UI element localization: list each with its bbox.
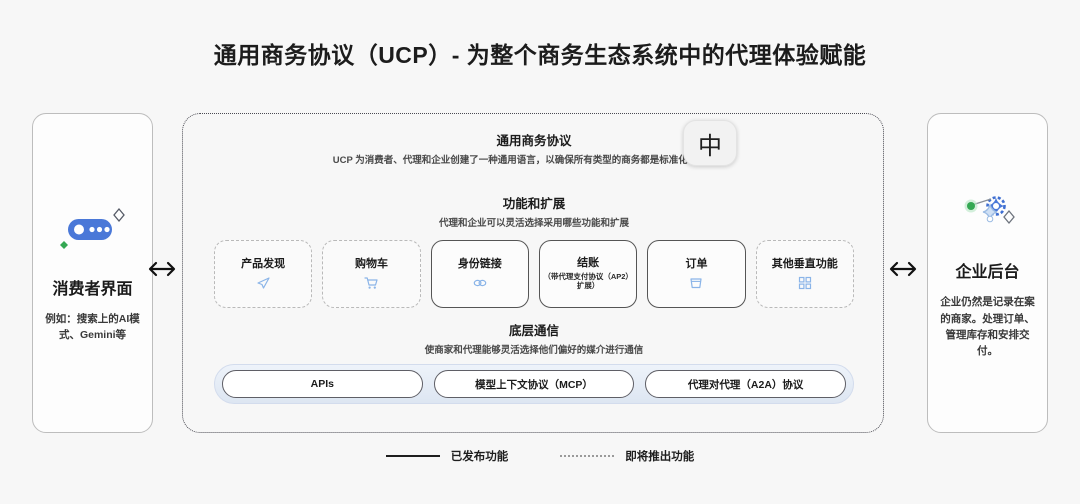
communication-protocol-band: APIs 模型上下文协议（MCP） 代理对代理（A2A）协议 [214,364,854,404]
feature-card-identity-link[interactable]: 身份链接 [431,240,529,308]
business-backend-panel: 企业后台 企业仍然是记录在案的商家。处理订单、管理库存和安排交付。 [927,113,1048,433]
feature-card-orders[interactable]: 订单 [647,240,745,308]
business-backend-desc: 企业仍然是记录在案的商家。处理订单、管理库存和安排交付。 [936,294,1039,359]
left-connector-arrow-icon [145,259,179,279]
feature-card-label: 订单 [685,258,707,272]
feature-cards-row: 产品发现 购物车 身份链接 [214,240,854,308]
business-backend-icon [951,186,1025,240]
feature-card-other-verticals[interactable]: 其他垂直功能 [756,240,854,308]
protocol-pill-a2a[interactable]: 代理对代理（A2A）协议 [645,370,846,398]
feature-card-shopping-cart[interactable]: 购物车 [322,240,420,308]
feature-card-label: 身份链接 [458,258,502,272]
legend-item-upcoming: 即将推出功能 [560,448,694,464]
consumer-interface-icon [56,203,130,257]
feature-card-label: 其他垂直功能 [772,258,838,272]
legend-dotted-line-icon [560,455,614,457]
paper-plane-icon [256,276,270,290]
features-header: 功能和扩展 代理和企业可以灵活选择采用哪些功能和扩展 [213,193,855,231]
legend-item-released: 已发布功能 [386,448,509,464]
communication-title: 底层通信 [213,320,855,339]
consumer-interface-title: 消费者界面 [52,275,132,299]
ucp-title: 通用商务协议 [213,130,855,149]
legend: 已发布功能 即将推出功能 [0,448,1080,464]
consumer-interface-panel: 消费者界面 例如：搜索上的AI模式、Gemini等 [32,113,153,433]
translate-badge-icon[interactable]: 中 [683,120,737,166]
legend-solid-line-icon [386,455,440,457]
legend-label-upcoming: 即将推出功能 [625,448,694,464]
features-title: 功能和扩展 [213,193,855,212]
grid-icon [798,276,812,290]
feature-card-sublabel: （带代理支付协议（AP2）扩展） [543,272,633,292]
ucp-container: 通用商务协议 UCP 为消费者、代理和企业创建了一种通用语言，以确保所有类型的商… [182,113,884,433]
package-icon [689,276,703,290]
feature-card-label: 购物车 [355,258,388,272]
protocol-pill-apis[interactable]: APIs [222,370,423,398]
right-connector-arrow-icon [886,259,920,279]
diagram-canvas: 通用商务协议（UCP）- 为整个商务生态系统中的代理体验赋能 消费者界面 例如：… [0,0,1080,504]
link-icon [473,276,487,290]
ucp-subtitle: UCP 为消费者、代理和企业创建了一种通用语言，以确保所有类型的商务都是标准化和… [213,153,855,168]
page-title: 通用商务协议（UCP）- 为整个商务生态系统中的代理体验赋能 [0,36,1080,70]
consumer-interface-desc: 例如：搜索上的AI模式、Gemini等 [41,311,144,344]
communication-subtitle: 使商家和代理能够灵活选择他们偏好的媒介进行通信 [213,343,855,358]
feature-card-label: 产品发现 [241,258,285,272]
feature-card-product-discovery[interactable]: 产品发现 [214,240,312,308]
legend-label-released: 已发布功能 [451,448,509,464]
feature-card-label: 结账 [577,257,599,271]
business-backend-title: 企业后台 [955,258,1019,282]
protocol-pill-mcp[interactable]: 模型上下文协议（MCP） [434,370,635,398]
feature-card-checkout[interactable]: 结账 （带代理支付协议（AP2）扩展） [539,240,637,308]
ucp-header: 通用商务协议 UCP 为消费者、代理和企业创建了一种通用语言，以确保所有类型的商… [213,130,855,168]
communication-header: 底层通信 使商家和代理能够灵活选择他们偏好的媒介进行通信 [213,320,855,358]
features-subtitle: 代理和企业可以灵活选择采用哪些功能和扩展 [213,216,855,231]
shopping-cart-icon [364,276,378,290]
